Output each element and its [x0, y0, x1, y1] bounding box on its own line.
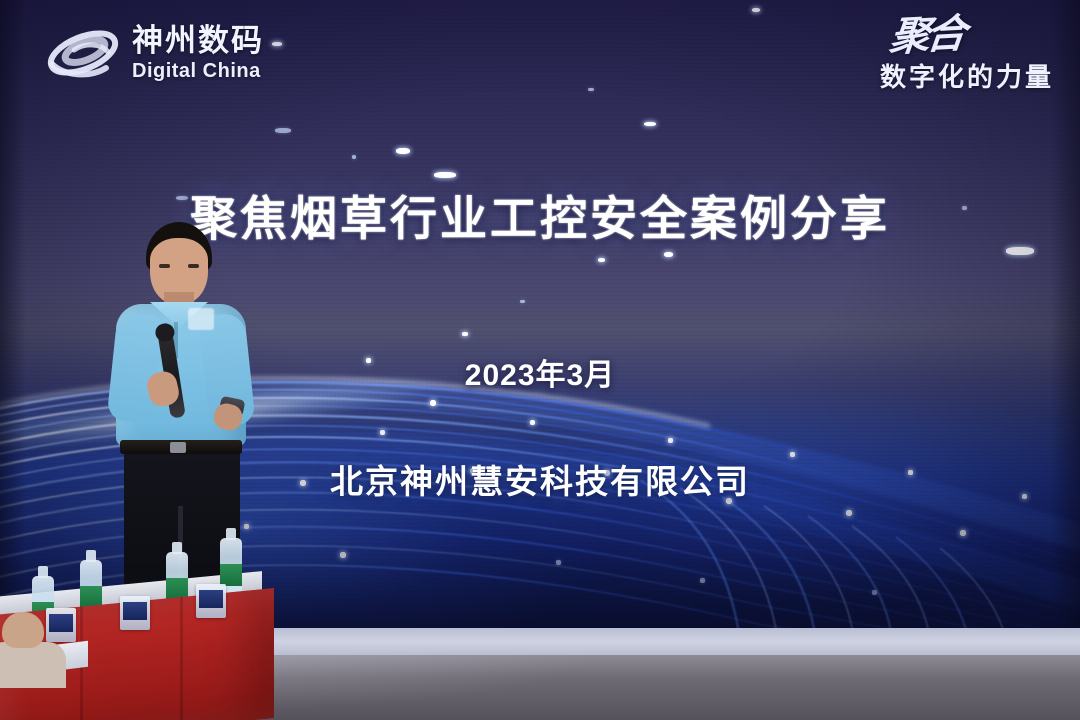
- event-brush-title: 聚合: [878, 14, 965, 58]
- logo-name-cn: 神州数码: [132, 25, 264, 56]
- event-brand-mark: 聚合 数字化的力量: [880, 16, 1054, 90]
- backdrop-left-edge-shadow: [0, 0, 26, 632]
- conference-stage-scene: 神州数码 Digital China 聚合 数字化的力量 聚焦烟草行业工控安全案…: [0, 0, 1080, 720]
- bottle-label: [220, 564, 242, 586]
- seated-attendee-head: [2, 612, 44, 648]
- digital-china-logo: 神州数码 Digital China: [44, 20, 264, 86]
- digital-china-swirl-icon: [44, 20, 122, 86]
- table-nameplate: [120, 596, 150, 630]
- presenter-belt-buckle: [170, 442, 186, 453]
- presenter-shirt-logo: [188, 308, 214, 330]
- table-nameplate: [196, 584, 226, 618]
- logo-name-en: Digital China: [132, 61, 264, 81]
- digital-china-logo-text: 神州数码 Digital China: [132, 25, 264, 81]
- seated-attendee: [0, 612, 74, 682]
- seated-attendee-shoulder: [0, 642, 66, 688]
- event-tagline: 数字化的力量: [880, 64, 1054, 90]
- backdrop-right-edge-shadow: [1050, 0, 1080, 632]
